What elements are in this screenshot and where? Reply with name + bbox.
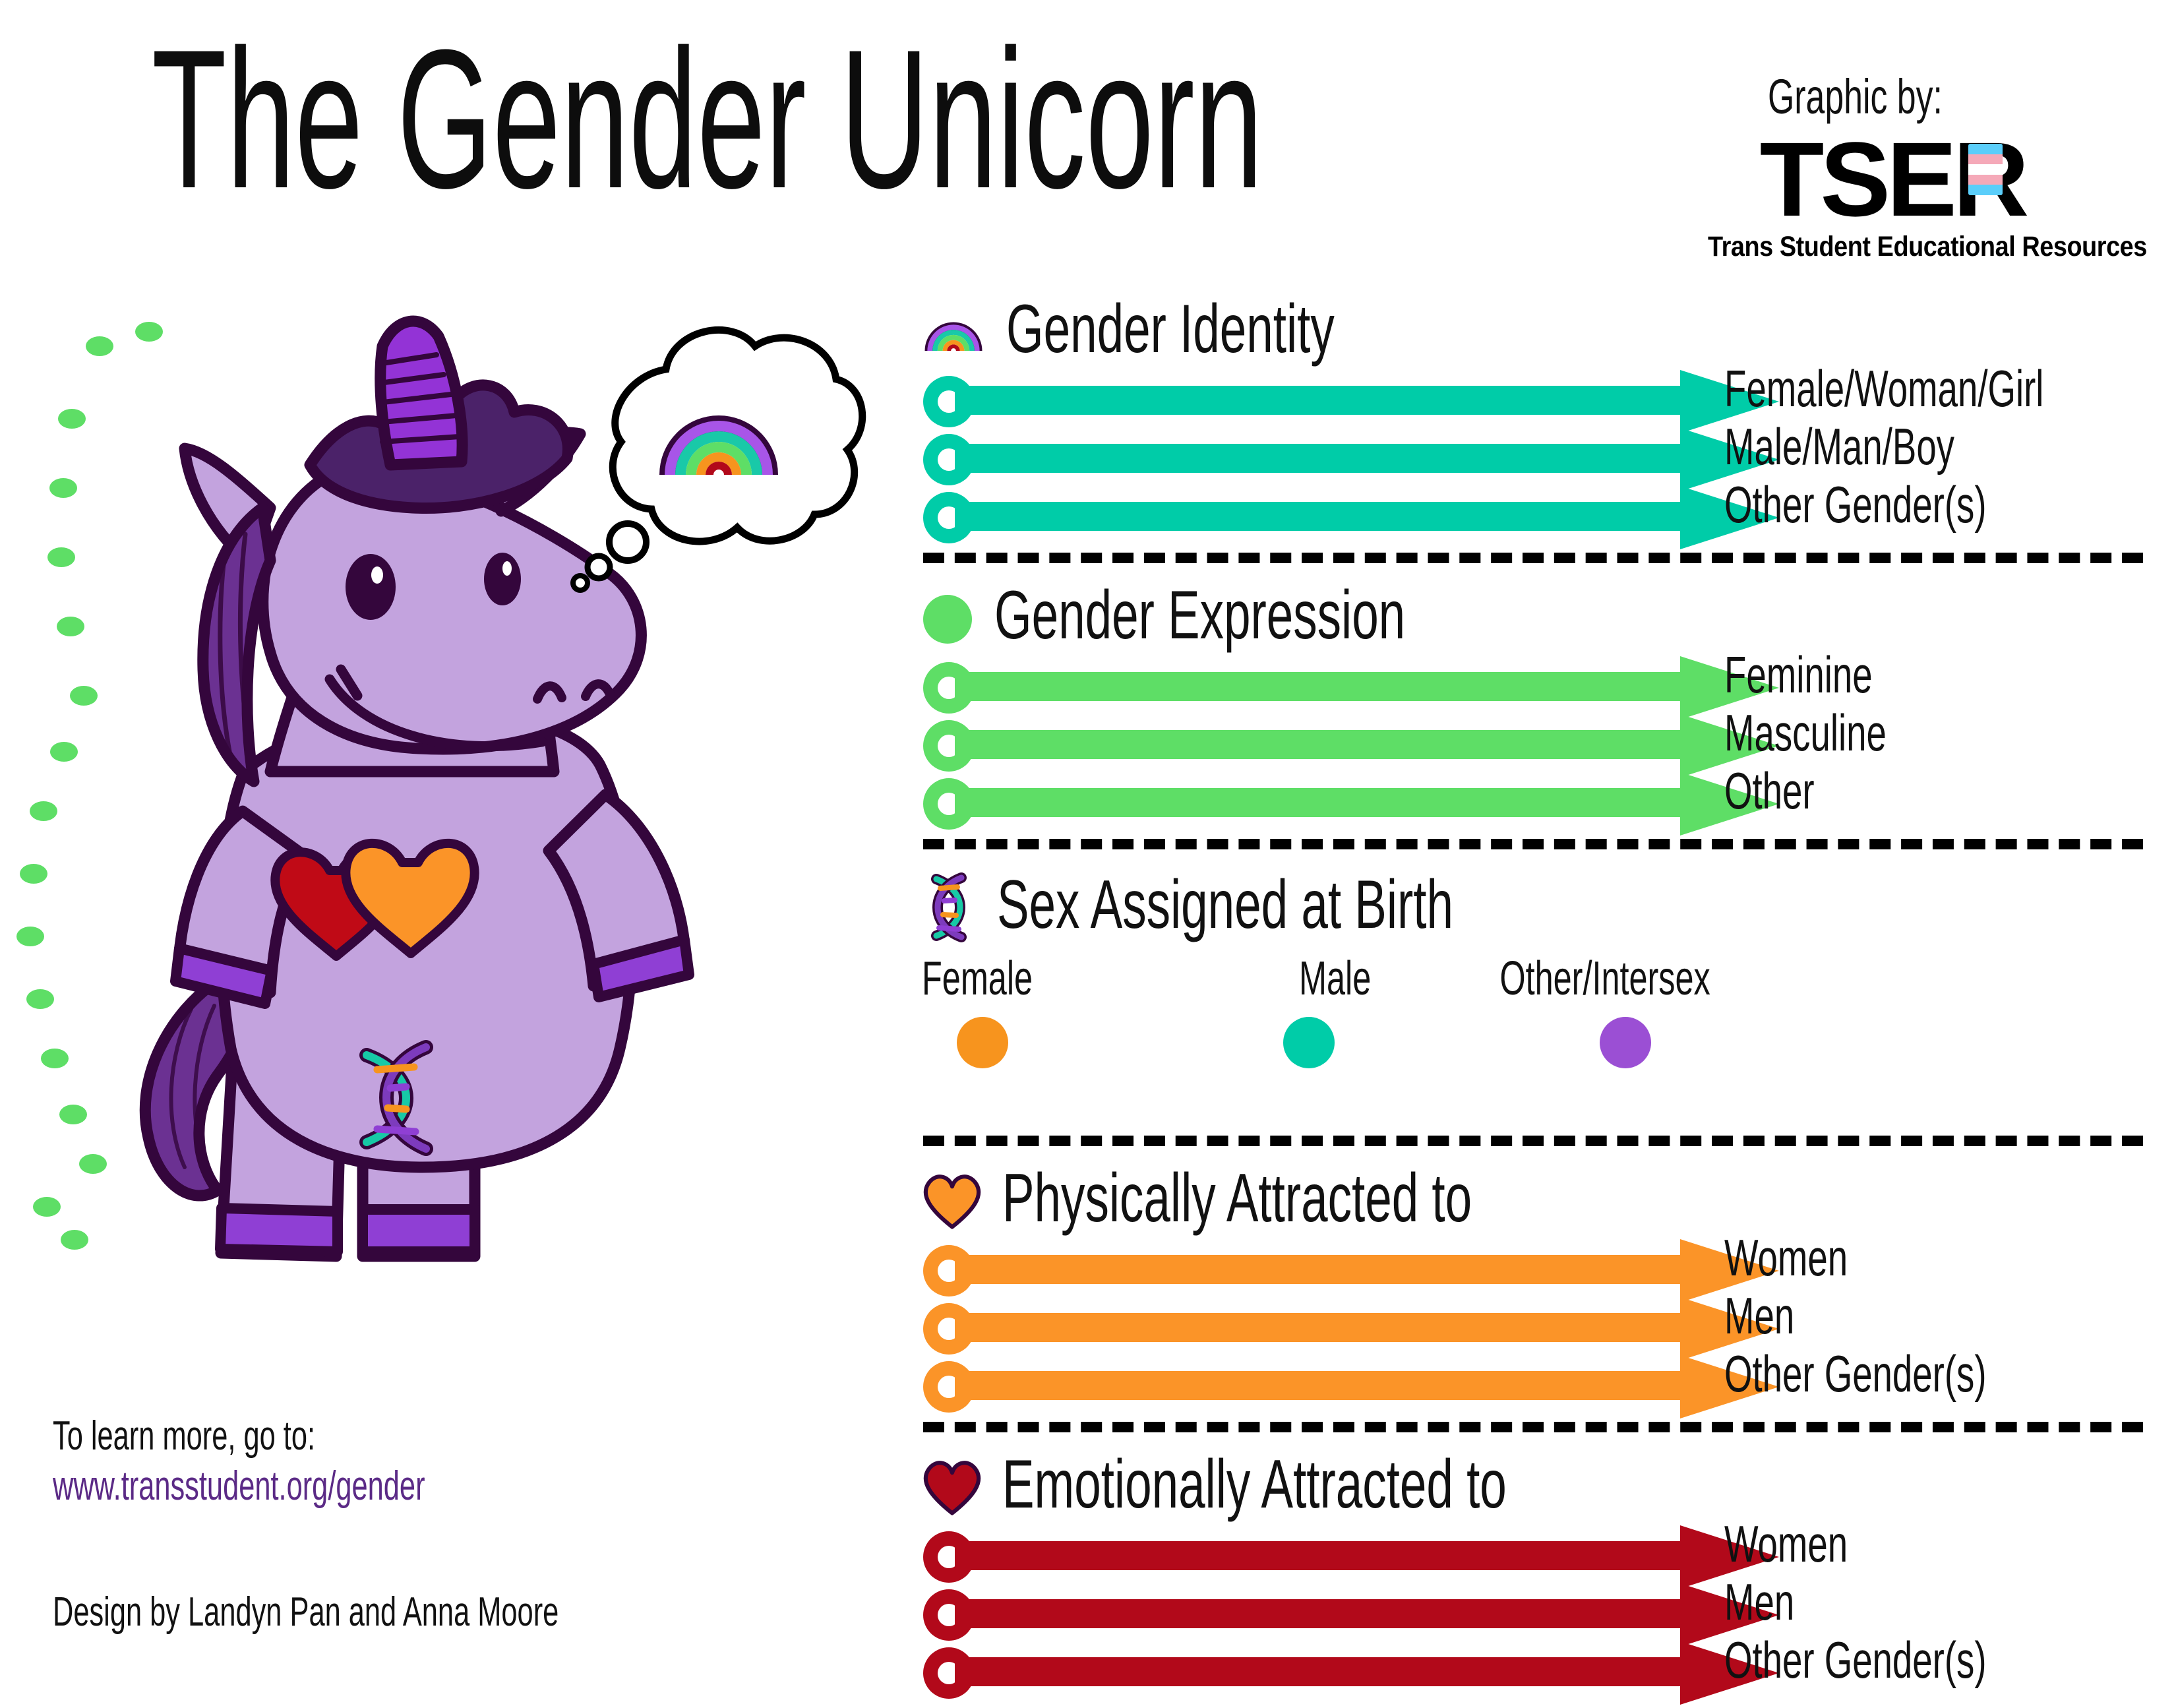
arrow-label: Other Gender(s) — [1724, 1634, 2099, 1686]
dark-red-heart-icon — [923, 1460, 980, 1517]
design-credit: Design by Landyn Pan and Anna Moore — [53, 1589, 778, 1635]
spectrum-arrow-row[interactable]: Other Gender(s) — [923, 495, 2163, 541]
dna-helix-icon — [923, 871, 975, 947]
tser-wordmark: TSER — [1760, 124, 2026, 235]
section-divider — [923, 553, 2143, 563]
arrow-label: Women — [1724, 1518, 1900, 1570]
sab-label: Other/Intersex — [1526, 955, 1724, 1002]
spectrum-arrow-row[interactable]: Women — [923, 1248, 2163, 1294]
spectrum-arrow-row[interactable]: Other Gender(s) — [923, 1364, 2163, 1410]
arrow-bar — [955, 672, 1680, 701]
arrow-bar — [955, 730, 1680, 759]
unicorn-illustration — [53, 310, 864, 1339]
spectrum-arrow-row[interactable]: Other Gender(s) — [923, 1650, 2163, 1696]
arrow-label: Other Gender(s) — [1724, 1348, 2099, 1399]
arrow-label: Masculine — [1724, 707, 1956, 758]
sab-dot — [1283, 1017, 1335, 1068]
footer: To learn more, go to: www.transstudent.o… — [53, 1411, 778, 1635]
section-divider — [923, 1136, 2143, 1146]
orange-heart-icon — [923, 1174, 980, 1231]
arrow-bar — [955, 1371, 1680, 1400]
arrow-label: Men — [1724, 1576, 1825, 1628]
arrow-bar — [955, 1657, 1680, 1686]
arrow-bar — [955, 1313, 1680, 1342]
arrow-bar — [955, 444, 1680, 473]
learn-more-label: To learn more, go to: — [53, 1411, 778, 1461]
thought-bubble — [567, 310, 877, 594]
website-link[interactable]: www.transstudent.org/gender — [53, 1461, 778, 1511]
section-title: Physically Attracted to — [1002, 1164, 1673, 1233]
sab-label: Male — [1210, 955, 1408, 1002]
arrow-label: Other Gender(s) — [1724, 479, 2099, 530]
green-circle-icon — [923, 595, 972, 644]
arrow-label: Men — [1724, 1290, 1825, 1341]
arrow-label: Female/Woman/Girl — [1724, 363, 2176, 414]
section-divider — [923, 1422, 2143, 1432]
org-name-label: Trans Student Educational Resources — [1708, 231, 2077, 263]
page-title: The Gender Unicorn — [152, 20, 1944, 218]
arrow-label: Male/Man/Boy — [1724, 421, 2053, 472]
arrow-bar — [955, 502, 1680, 531]
arrow-bar — [955, 1599, 1680, 1628]
arrow-bar — [955, 1541, 1680, 1570]
sab-option-other-intersex[interactable]: Other/Intersex — [1526, 955, 1724, 1068]
sab-option-female[interactable]: Female — [884, 955, 1081, 1068]
trans-flag-icon — [1968, 144, 2003, 195]
section-gender-identity: Gender Identity Female/Woman/Girl Male/M… — [923, 290, 2163, 541]
section-emotionally-attracted-to: Emotionally Attracted to Women Men Other… — [923, 1446, 2163, 1696]
spectrum-arrow-row[interactable]: Other — [923, 781, 2163, 827]
section-title: Gender Identity — [1006, 295, 1475, 363]
arrow-label: Women — [1724, 1232, 1900, 1283]
section-divider — [923, 839, 2143, 849]
section-sex-assigned-at-birth: Sex Assigned at Birth Female Male Other/… — [923, 863, 2163, 1126]
spectrum-arrow-row[interactable]: Women — [923, 1534, 2163, 1580]
spectrum-arrow-row[interactable]: Female/Woman/Girl — [923, 379, 2163, 425]
arrow-bar — [955, 788, 1680, 817]
arrow-label: Feminine — [1724, 649, 1936, 700]
spectrum-sections: Gender Identity Female/Woman/Girl Male/M… — [923, 290, 2163, 1708]
spectrum-arrow-row[interactable]: Masculine — [923, 723, 2163, 769]
graphic-by-label: Graphic by: — [1708, 73, 2077, 121]
credit-logo-block: Graphic by: TSER Trans Student Education… — [1708, 73, 2077, 263]
section-title: Emotionally Attracted to — [1002, 1450, 1723, 1519]
spectrum-arrow-row[interactable]: Feminine — [923, 665, 2163, 711]
arrow-bar — [955, 386, 1680, 415]
sab-label: Female — [884, 955, 1081, 1002]
section-physically-attracted-to: Physically Attracted to Women Men Other … — [923, 1159, 2163, 1410]
section-gender-expression: Gender Expression Feminine Masculine Oth… — [923, 576, 2163, 827]
section-title: Gender Expression — [994, 581, 1581, 650]
sab-option-male[interactable]: Male — [1210, 955, 1408, 1068]
arrow-label: Other — [1724, 765, 1853, 816]
rainbow-icon — [923, 313, 984, 354]
section-title: Sex Assigned at Birth — [997, 870, 1649, 939]
arrow-bar — [955, 1255, 1680, 1284]
sab-dot — [957, 1017, 1008, 1068]
sab-dot — [1600, 1017, 1651, 1068]
